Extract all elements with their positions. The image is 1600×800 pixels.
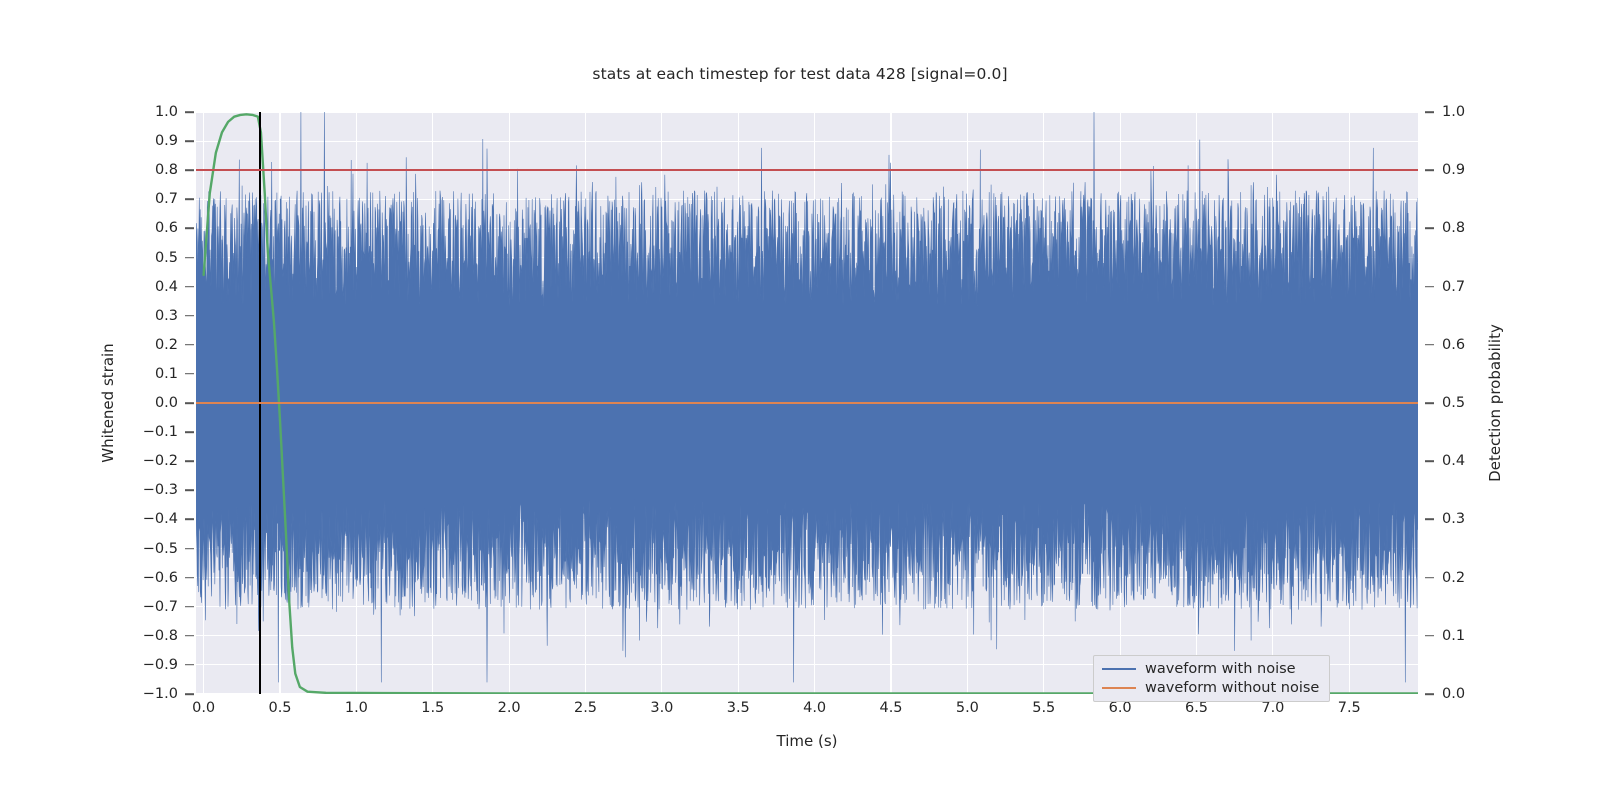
y-tick-mark-right (1425, 693, 1434, 695)
y-tick-label-right: 0.1 (1442, 628, 1502, 644)
y-tick-label-left: −0.3 (0, 482, 178, 498)
x-tick-label: 0.5 (245, 700, 315, 716)
y-tick-mark-right (1425, 577, 1434, 579)
plot-area: SNR=0.0Mc=0.0S=0.00017390839639119804 (196, 112, 1418, 694)
x-tick-label: 5.0 (932, 700, 1002, 716)
y-tick-label-left: −0.6 (0, 570, 178, 586)
y-tick-mark-left (185, 373, 194, 375)
x-tick-label: 2.5 (551, 700, 621, 716)
y-tick-mark-left (185, 490, 194, 492)
y-tick-mark-right (1425, 635, 1434, 637)
y-tick-mark-right (1425, 228, 1434, 230)
y-tick-label-left: −0.9 (0, 657, 178, 673)
y-tick-label-right: 0.9 (1442, 162, 1502, 178)
y-tick-label-right: 1.0 (1442, 104, 1502, 120)
x-tick-label: 5.5 (1009, 700, 1079, 716)
x-tick-label: 3.5 (703, 700, 773, 716)
y-tick-label-left: 0.9 (0, 133, 178, 149)
x-axis-label: Time (s) (777, 732, 838, 750)
y-tick-mark-left (185, 140, 194, 142)
y-tick-mark-left (185, 606, 194, 608)
figure: stats at each timestep for test data 428… (0, 0, 1600, 800)
y-tick-mark-right (1425, 111, 1434, 113)
y-axis-label-left: Whitened strain (99, 343, 117, 462)
x-tick-label: 6.5 (1162, 700, 1232, 716)
y-tick-label-left: −0.1 (0, 424, 178, 440)
y-tick-mark-left (185, 111, 194, 113)
x-tick-label: 7.0 (1238, 700, 1308, 716)
legend-item: waveform without noise (1102, 680, 1319, 696)
page-title: stats at each timestep for test data 428… (0, 65, 1600, 83)
y-tick-label-left: 1.0 (0, 104, 178, 120)
y-tick-mark-left (185, 664, 194, 666)
y-tick-mark-left (185, 286, 194, 288)
legend: waveform with noisewaveform without nois… (1093, 655, 1330, 702)
y-axis-label-right: Detection probability (1486, 324, 1504, 482)
y-tick-label-left: 0.0 (0, 395, 178, 411)
y-tick-label-left: −0.2 (0, 453, 178, 469)
y-tick-label-right: 0.3 (1442, 511, 1502, 527)
y-tick-mark-left (185, 402, 194, 404)
line-waveform-without-noise (196, 402, 1418, 404)
y-tick-mark-left (185, 315, 194, 317)
x-tick-label: 4.5 (856, 700, 926, 716)
y-tick-label-right: 0.8 (1442, 220, 1502, 236)
x-tick-label: 2.0 (474, 700, 544, 716)
y-tick-label-left: −0.4 (0, 511, 178, 527)
legend-label: waveform without noise (1145, 680, 1319, 696)
y-tick-mark-left (185, 344, 194, 346)
x-tick-label: 1.5 (398, 700, 468, 716)
y-tick-mark-left (185, 431, 194, 433)
legend-swatch (1102, 687, 1136, 689)
y-tick-label-left: −0.5 (0, 541, 178, 557)
y-tick-mark-left (185, 199, 194, 201)
y-tick-mark-right (1425, 286, 1434, 288)
y-tick-mark-left (185, 519, 194, 521)
y-tick-label-left: 0.8 (0, 162, 178, 178)
x-tick-label: 3.0 (627, 700, 697, 716)
y-tick-mark-left (185, 169, 194, 171)
y-tick-label-left: −0.7 (0, 599, 178, 615)
y-tick-label-left: 0.1 (0, 366, 178, 382)
y-tick-mark-right (1425, 169, 1434, 171)
y-tick-mark-right (1425, 402, 1434, 404)
y-tick-mark-left (185, 693, 194, 695)
x-tick-label: 0.0 (169, 700, 239, 716)
x-tick-label: 7.5 (1314, 700, 1384, 716)
legend-item: waveform with noise (1102, 661, 1319, 677)
y-tick-mark-left (185, 548, 194, 550)
x-tick-label: 1.0 (321, 700, 391, 716)
y-tick-label-left: 0.7 (0, 191, 178, 207)
y-tick-mark-right (1425, 519, 1434, 521)
y-tick-mark-left (185, 460, 194, 462)
y-tick-mark-left (185, 635, 194, 637)
y-tick-label-left: 0.4 (0, 279, 178, 295)
y-tick-label-left: −1.0 (0, 686, 178, 702)
y-tick-label-left: 0.3 (0, 308, 178, 324)
y-tick-mark-right (1425, 460, 1434, 462)
y-tick-mark-left (185, 257, 194, 259)
y-tick-mark-right (1425, 344, 1434, 346)
y-tick-mark-left (185, 228, 194, 230)
y-tick-label-left: 0.2 (0, 337, 178, 353)
y-tick-label-left: 0.5 (0, 250, 178, 266)
line-detection-threshold (196, 169, 1418, 171)
y-tick-label-right: 0.2 (1442, 570, 1502, 586)
x-tick-label: 4.0 (780, 700, 850, 716)
y-tick-label-right: 0.7 (1442, 279, 1502, 295)
y-tick-mark-left (185, 577, 194, 579)
y-tick-label-right: 0.0 (1442, 686, 1502, 702)
y-tick-label-left: 0.6 (0, 220, 178, 236)
y-tick-label-left: −0.8 (0, 628, 178, 644)
x-tick-label: 6.0 (1085, 700, 1155, 716)
legend-swatch (1102, 668, 1136, 670)
legend-label: waveform with noise (1145, 661, 1296, 677)
